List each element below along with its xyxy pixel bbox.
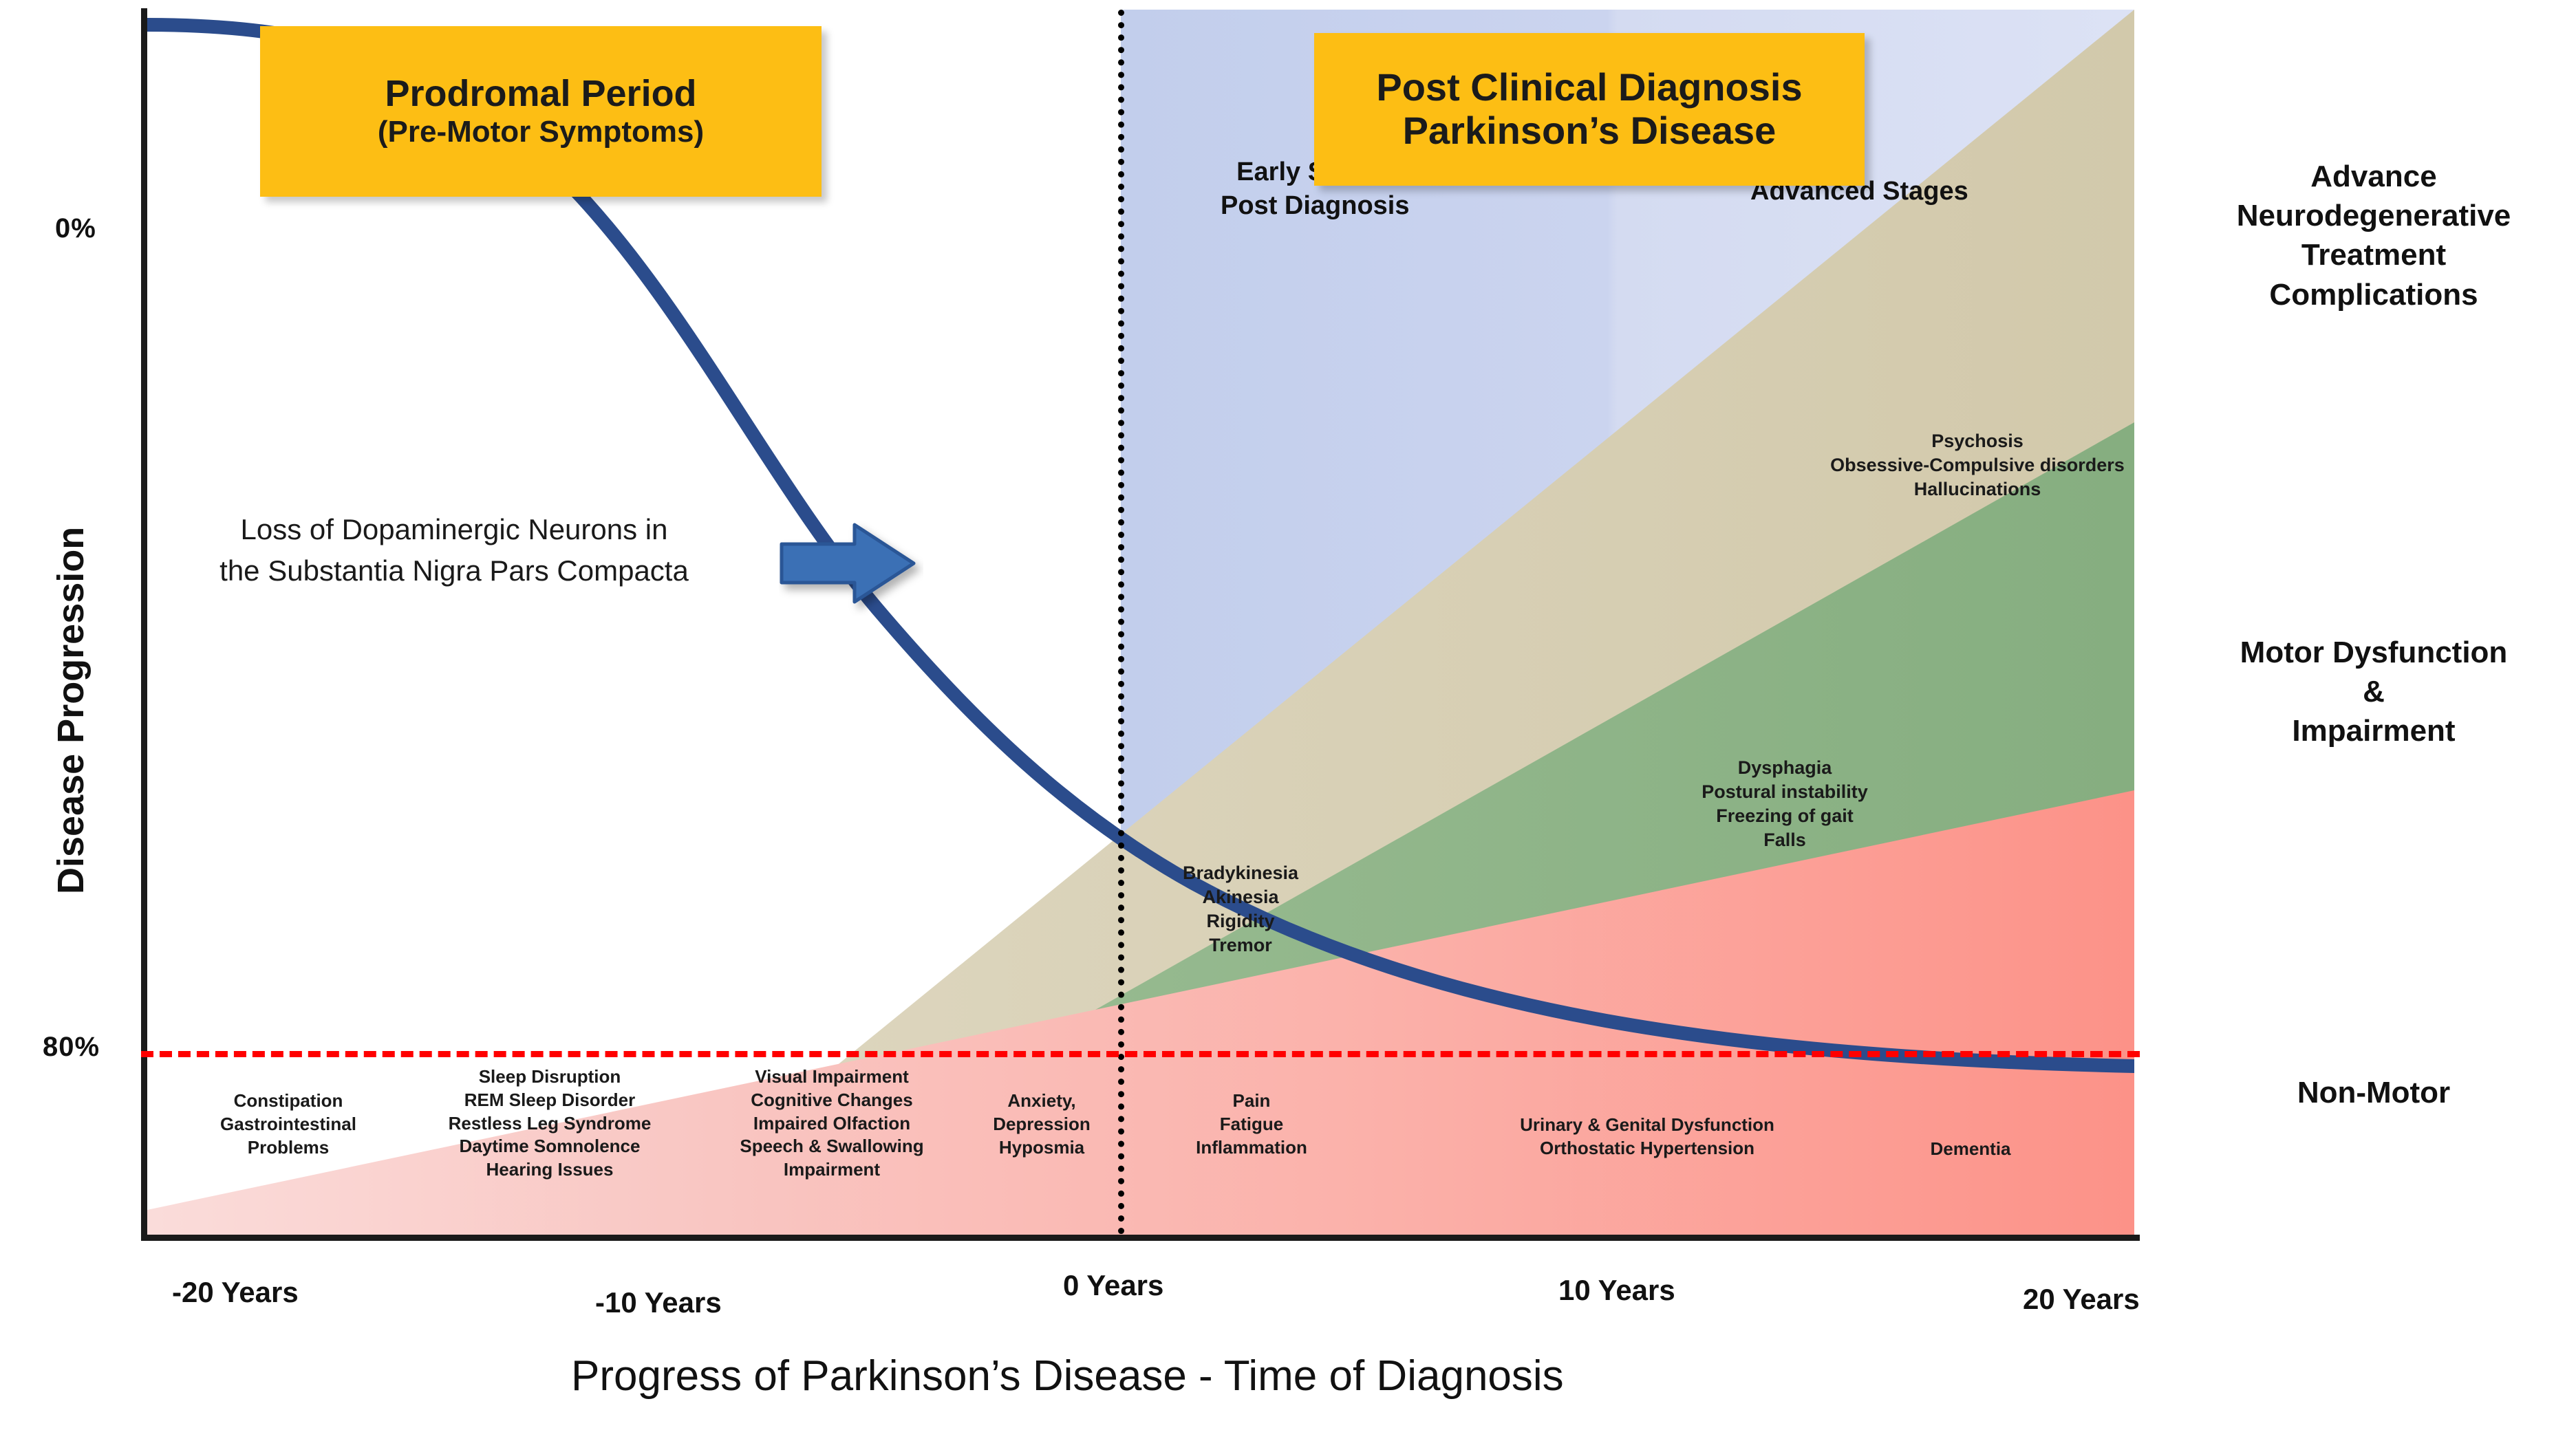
right-label-advance: Advance Neurodegenerative Treatment Comp… (2181, 157, 2566, 314)
symptom-line: Psychosis (1799, 429, 2134, 453)
symptom-line: Pain (1138, 1090, 1365, 1113)
annotation-line2: the Substantia Nigra Pars Compacta (193, 550, 716, 592)
symptom-group-autonomic: Urinary & Genital Dysfunction Orthostati… (1451, 1114, 1843, 1160)
callout-postdx-line2: Parkinson’s Disease (1403, 109, 1777, 153)
x-tick-20: 20 Years (2023, 1283, 2140, 1316)
symptom-line: Fatigue (1138, 1113, 1365, 1136)
symptom-line: Urinary & Genital Dysfunction (1451, 1114, 1843, 1137)
symptom-line: Obsessive-Compulsive disorders (1799, 453, 2134, 477)
right-label-line: Neurodegenerative (2181, 196, 2566, 235)
stage-header-early-line2: Post Diagnosis (1221, 191, 1410, 220)
symptom-group-mood: Anxiety, Depression Hyposmia (938, 1090, 1145, 1159)
eighty-percent-threshold-line (141, 1051, 2140, 1057)
right-label-line: & (2181, 672, 2566, 711)
callout-post-clinical-diagnosis: Post Clinical Diagnosis Parkinson’s Dise… (1314, 33, 1865, 186)
symptom-line: Dementia (1888, 1138, 2053, 1161)
y-tick-0: 0% (55, 213, 96, 244)
right-label-line: Advance (2181, 157, 2566, 196)
right-arrow-icon (779, 519, 923, 616)
x-tick-zero: 0 Years (1063, 1269, 1163, 1302)
symptom-line: Falls (1613, 828, 1957, 852)
symptom-line: Freezing of gait (1613, 804, 1957, 828)
annotation-line1: Loss of Dopaminergic Neurons in (193, 509, 716, 550)
symptom-group-dementia: Dementia (1888, 1138, 2053, 1161)
symptom-group-pain: Pain Fatigue Inflammation (1138, 1090, 1365, 1159)
symptom-line: Tremor (1127, 933, 1354, 957)
symptom-line: Rigidity (1127, 909, 1354, 933)
annotation-neuron-loss: Loss of Dopaminergic Neurons in the Subs… (193, 509, 716, 591)
right-label-line: Impairment (2181, 711, 2566, 750)
callout-postdx-line1: Post Clinical Diagnosis (1376, 66, 1802, 109)
right-label-line: Complications (2181, 275, 2566, 314)
symptom-line: Impairment (660, 1158, 1004, 1182)
symptom-line: Postural instability (1613, 780, 1957, 804)
symptom-line: Hyposmia (938, 1136, 1145, 1160)
right-label-motor: Motor Dysfunction & Impairment (2181, 633, 2566, 751)
callout-prodromal-period: Prodromal Period (Pre-Motor Symptoms) (260, 26, 822, 197)
symptom-line: Hallucinations (1799, 477, 2134, 501)
x-axis-line (141, 1235, 2140, 1241)
right-label-line: Non-Motor (2181, 1073, 2566, 1112)
callout-prodromal-subtitle: (Pre-Motor Symptoms) (378, 114, 704, 150)
x-axis-title: Progress of Parkinson’s Disease - Time o… (571, 1352, 1564, 1400)
symptom-line: Visual Impairment (660, 1065, 1004, 1089)
symptom-line: Bradykinesia (1127, 861, 1354, 885)
x-tick-10: 10 Years (1558, 1274, 1675, 1307)
right-label-nonmotor: Non-Motor (2181, 1073, 2566, 1112)
x-tick-minus10: -10 Years (595, 1286, 722, 1319)
symptom-group-cardinal: Bradykinesia Akinesia Rigidity Tremor (1127, 861, 1354, 957)
callout-prodromal-title: Prodromal Period (385, 73, 696, 114)
x-tick-minus20: -20 Years (172, 1276, 299, 1309)
right-label-line: Treatment (2181, 235, 2566, 274)
parkinsons-progression-diagram: Early Stages Post Diagnosis Advanced Sta… (0, 0, 2576, 1430)
symptom-line: Dysphagia (1613, 756, 1957, 780)
right-label-line: Motor Dysfunction (2181, 633, 2566, 672)
symptom-group-psych: Psychosis Obsessive-Compulsive disorders… (1799, 429, 2134, 501)
symptom-line: Akinesia (1127, 885, 1354, 909)
symptom-line: Inflammation (1138, 1136, 1365, 1160)
symptom-group-advmotor: Dysphagia Postural instability Freezing … (1613, 756, 1957, 852)
y-tick-80: 80% (43, 1032, 100, 1063)
y-axis-title: Disease Progression (50, 527, 92, 894)
symptom-line: Depression (938, 1113, 1145, 1136)
symptom-line: Anxiety, (938, 1090, 1145, 1113)
symptom-line: Orthostatic Hypertension (1451, 1137, 1843, 1160)
